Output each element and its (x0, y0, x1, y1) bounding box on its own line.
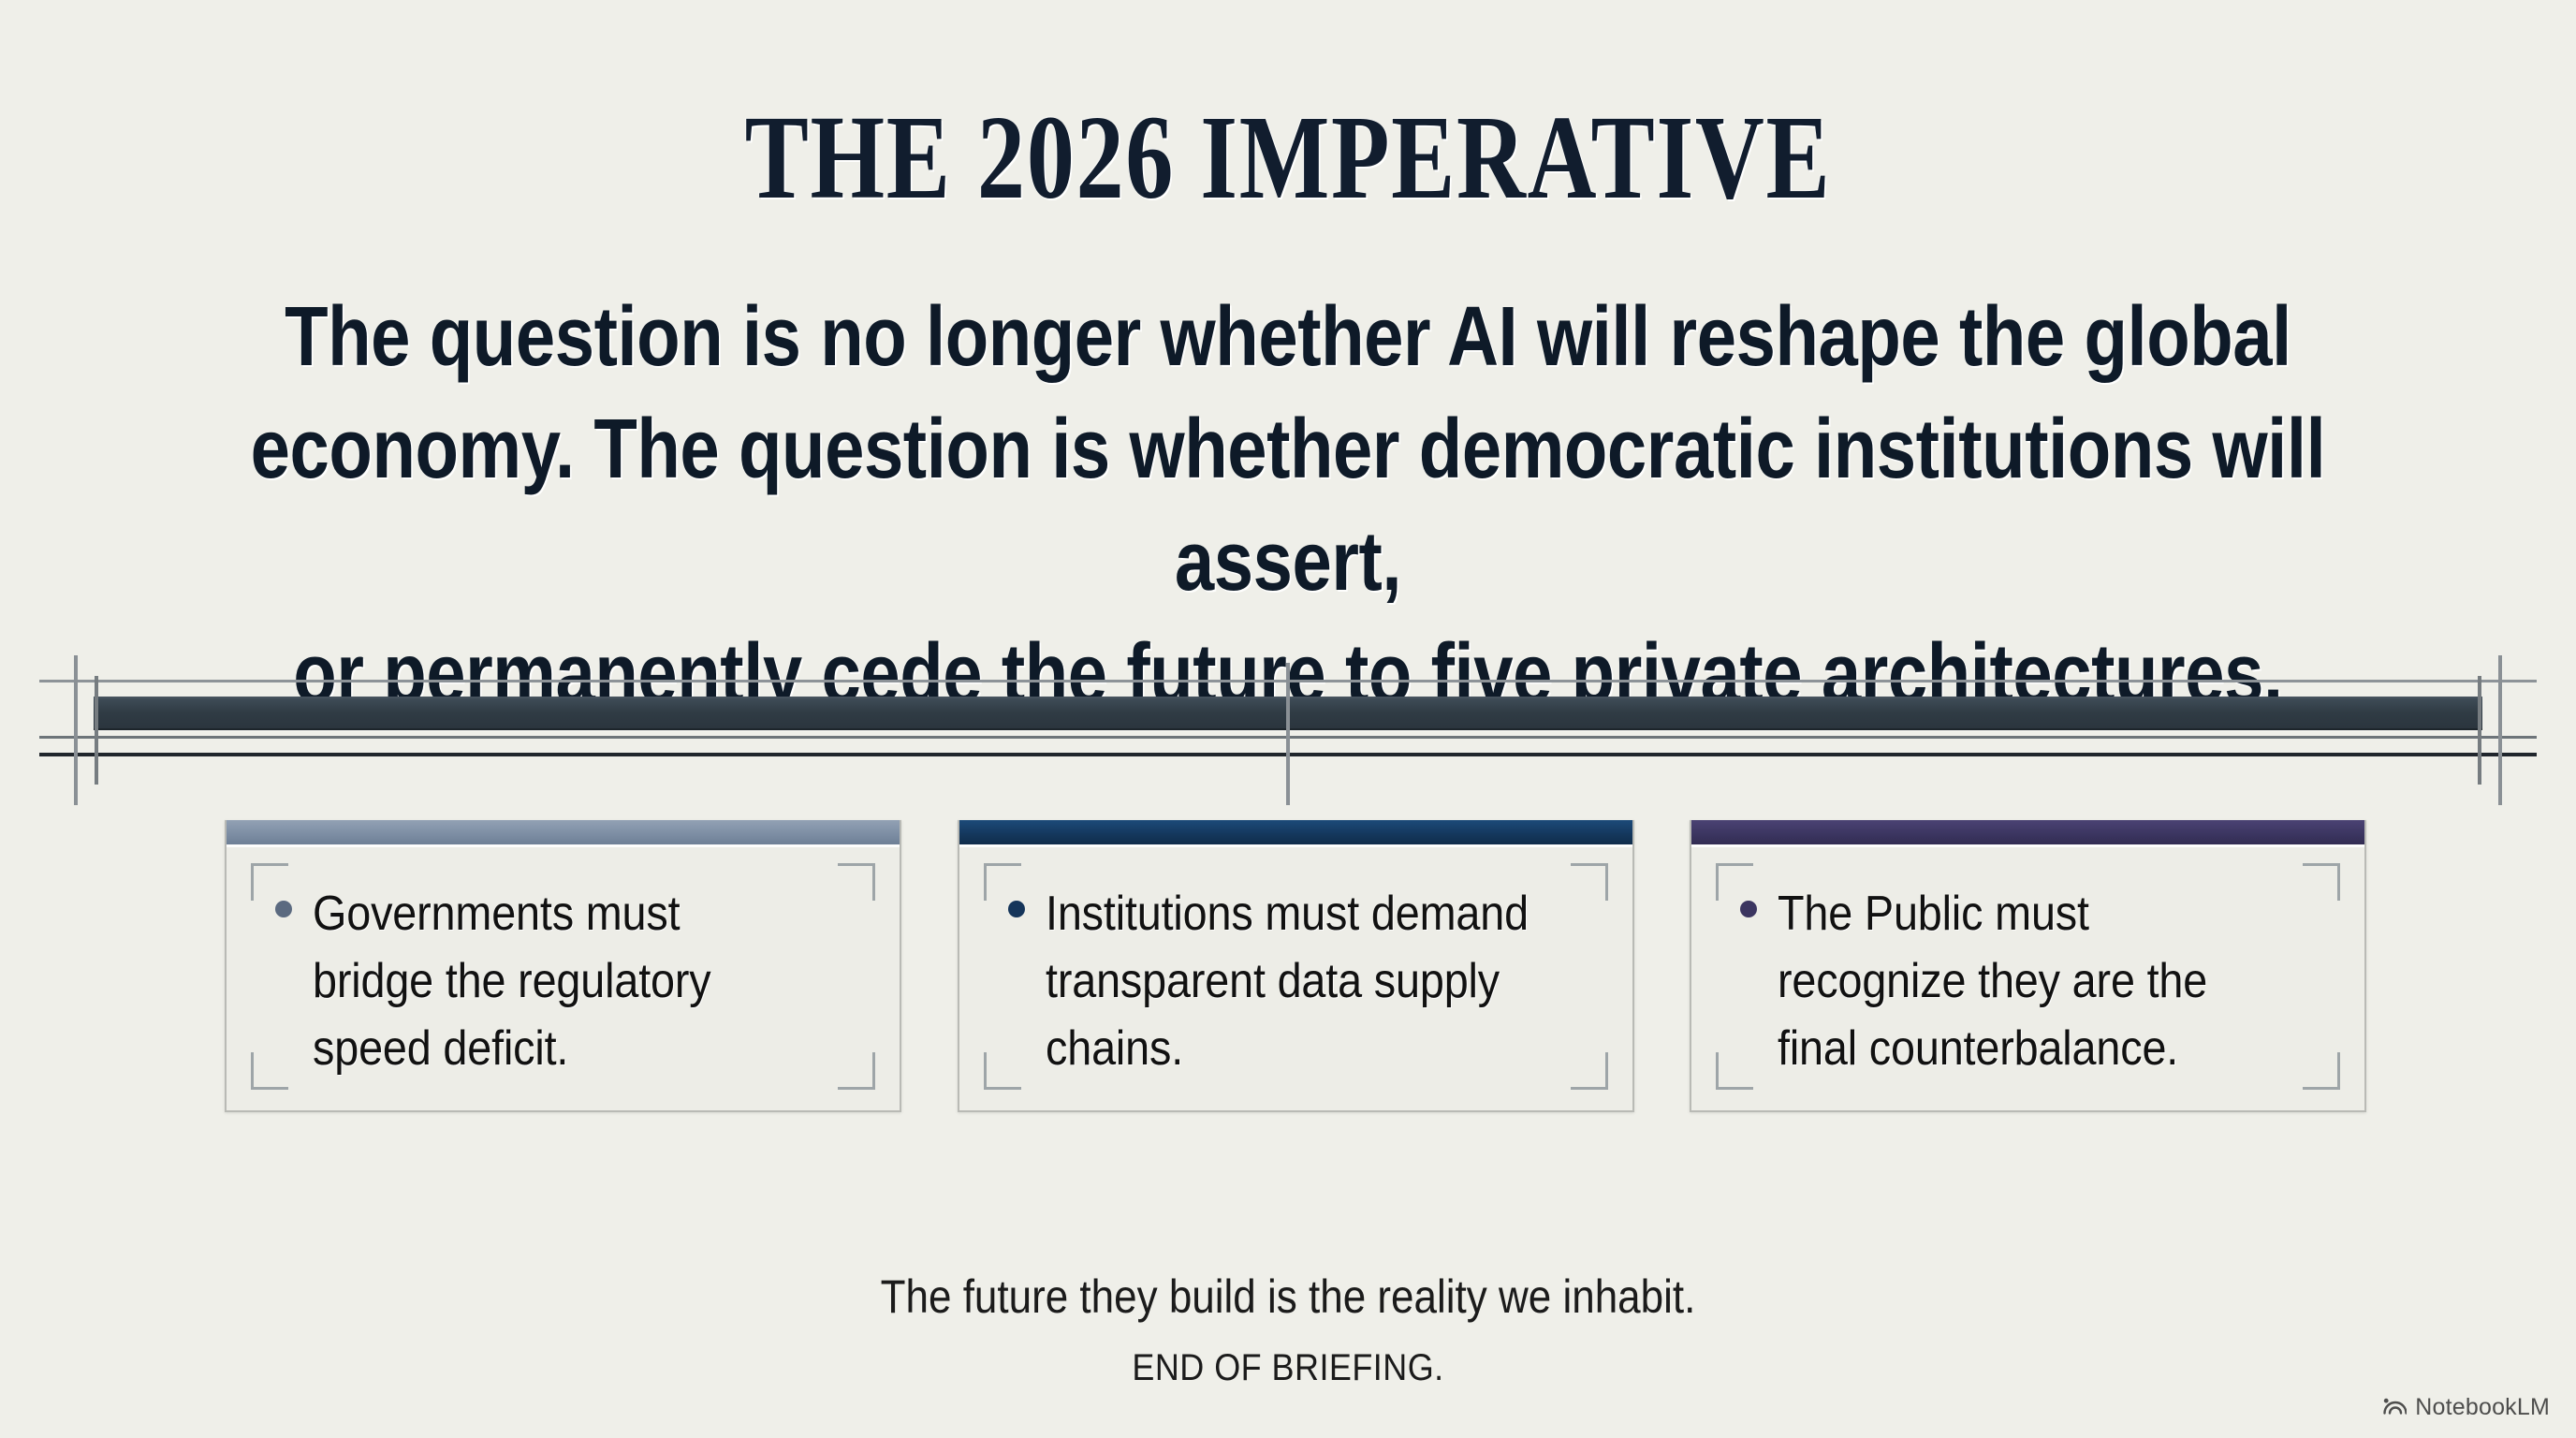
divider-tick-center (1286, 663, 1290, 805)
notebooklm-label: NotebookLM (2415, 1394, 2550, 1421)
directive-card-public[interactable]: The Public must recognize they are the f… (1690, 820, 2366, 1112)
lead-line-2: economy. The question is whether democra… (244, 393, 2333, 618)
page-title: THE 2026 IMPERATIVE (257, 97, 2319, 217)
directive-card-institutions[interactable]: Institutions must demand transparent dat… (958, 820, 1634, 1112)
card-accent-bar (227, 820, 900, 844)
divider-tick-left-outer (74, 655, 78, 805)
lead-line-1: The question is no longer whether AI wil… (244, 281, 2333, 393)
divider-tick-right-inner (2478, 676, 2481, 785)
notebooklm-arc-icon (2382, 1395, 2407, 1420)
footer-statement: The future they build is the reality we … (154, 1269, 2422, 1324)
card-body: Governments must bridge the regulatory s… (275, 880, 860, 1082)
card-body: The Public must recognize they are the f… (1740, 880, 2325, 1082)
directive-card-governments[interactable]: Governments must bridge the regulatory s… (225, 820, 901, 1112)
bullet-point-icon (275, 901, 292, 917)
card-text: Institutions must demand transparent dat… (1046, 880, 1539, 1082)
card-accent-bar (959, 820, 1632, 844)
card-body: Institutions must demand transparent dat… (1008, 880, 1593, 1082)
card-text: Governments must bridge the regulatory s… (313, 880, 806, 1082)
slide-canvas: THE 2026 IMPERATIVE The question is no l… (0, 0, 2576, 1438)
notebooklm-watermark: NotebookLM (2382, 1394, 2550, 1421)
directive-card-row: Governments must bridge the regulatory s… (225, 820, 2366, 1112)
bullet-point-icon (1008, 901, 1025, 917)
divider-tick-right-outer (2498, 655, 2502, 805)
bullet-point-icon (1740, 901, 1757, 917)
footer-end-note: END OF BRIEFING. (129, 1345, 2448, 1390)
technical-divider (0, 646, 2576, 814)
divider-tick-left-inner (95, 676, 98, 785)
card-accent-bar (1691, 820, 2364, 844)
card-text: The Public must recognize they are the f… (1778, 880, 2271, 1082)
